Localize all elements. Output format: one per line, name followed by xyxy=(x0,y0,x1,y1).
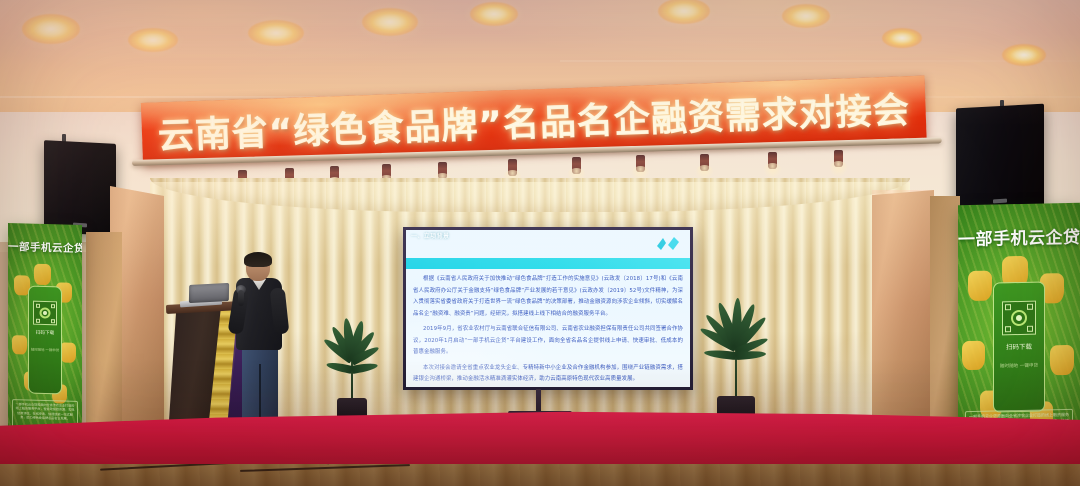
qr-corner xyxy=(1005,326,1011,332)
standee-left-qr-icon xyxy=(33,301,57,326)
standee-left-title: 一部手机云企贷 xyxy=(8,239,82,256)
floor-cable xyxy=(240,464,410,472)
standee-right-title: 一部手机云企贷 xyxy=(958,223,1080,251)
qr-scan-dot xyxy=(43,311,47,315)
standee-right-qr-icon xyxy=(1002,301,1036,336)
qr-corner xyxy=(1027,326,1033,332)
left-outer-wall-panel xyxy=(86,232,122,438)
projection-screen: 一、立项背景 根据《云南省人民政府关于加快推动“绿色食品牌”打造工作的实施意见》… xyxy=(403,227,693,390)
ceiling-downlight xyxy=(362,8,418,36)
qr-corner xyxy=(1005,304,1011,310)
standee-right-phone-label: 扫码下载 xyxy=(994,340,1044,351)
stage-spotlight xyxy=(768,152,777,169)
right-outer-wall-panel xyxy=(930,196,960,448)
standee-right-phone-graphic: 扫码下载 随时随地 一键申贷 xyxy=(993,281,1045,412)
left-pa-speaker xyxy=(44,140,116,236)
palm-frond xyxy=(736,350,766,360)
ceiling-downlight xyxy=(128,28,178,52)
potted-palm-right xyxy=(700,296,772,426)
ceiling-downlight xyxy=(882,28,922,48)
screen-stand xyxy=(536,389,541,413)
handheld-microphone xyxy=(238,290,244,306)
corn-graphic xyxy=(962,341,985,370)
slide-body: 根据《云南省人民政府关于加快推动“绿色食品牌”打造工作的实施意见》(云政发〔20… xyxy=(413,274,683,387)
stage-spotlight xyxy=(572,157,581,174)
corn-graphic xyxy=(1050,345,1074,376)
stage-spotlight xyxy=(508,159,517,176)
ceiling-downlight xyxy=(248,20,304,46)
projection-screen-surface: 一、立项背景 根据《云南省人民政府关于加快推动“绿色食品牌”打造工作的实施意见》… xyxy=(406,230,690,387)
standee-left-phone-sub: 随时随地 一键申贷 xyxy=(29,347,61,353)
stage-spotlight xyxy=(834,150,843,167)
corn-graphic xyxy=(12,335,27,354)
standee-left-phone-label: 扫码下载 xyxy=(29,330,61,337)
right-wall-pillar-wash xyxy=(872,190,934,448)
conference-stage-photo: 云南省“绿色食品牌”名品名企融资需求对接会 一、立项背景 根据《云南省人民政府关… xyxy=(0,0,1080,486)
corn-graphic xyxy=(34,264,51,285)
pa-badge xyxy=(993,199,1007,204)
qr-corner xyxy=(51,304,55,308)
slide-paragraph: 本次对接会邀请全省重点农业龙头企业、专精特新中小企业及合作金融机构参加，围绕产业… xyxy=(413,363,683,386)
ceiling-downlight xyxy=(658,0,710,24)
qr-corner xyxy=(36,318,40,322)
qr-corner xyxy=(1027,304,1033,310)
standee-left: 一部手机云企贷 扫码下载 随时随地 一键申贷 一部手机云企贷是面向全省涉农企业打… xyxy=(8,223,82,447)
presenter-leg-split xyxy=(259,364,261,426)
corn-graphic xyxy=(968,271,992,302)
corn-graphic xyxy=(60,342,76,362)
stage-spotlight xyxy=(636,155,645,172)
standee-right-phone-sub: 随时随地 一键申贷 xyxy=(994,362,1044,369)
ceiling-downlight xyxy=(1002,44,1046,66)
slide-section-label: 一、立项背景 xyxy=(411,230,449,241)
stage-spotlight xyxy=(438,162,447,179)
presentation-laptop-screen xyxy=(189,283,229,303)
ceiling-downlight xyxy=(470,2,518,26)
qr-corner xyxy=(36,303,40,307)
ceiling-downlight xyxy=(22,14,80,44)
ceiling-seam xyxy=(560,60,1080,62)
right-pa-speaker xyxy=(956,104,1044,213)
ceiling-downlight xyxy=(782,4,830,28)
slide-paragraph: 根据《云南省人民政府关于加快推动“绿色食品牌”打造工作的实施意见》(云政发〔20… xyxy=(413,274,683,320)
stage-spotlight xyxy=(700,154,709,171)
presenter xyxy=(232,254,288,436)
slide-section-bar xyxy=(406,258,690,269)
presenter-hair xyxy=(244,252,272,267)
qr-corner xyxy=(51,319,55,323)
slide-paragraph: 2019年9月，省农业农村厅与云南省联合征信有限公司、云南省农业融资担保有限责任… xyxy=(413,324,683,359)
potted-palm-left xyxy=(322,310,382,422)
standee-left-phone-graphic: 扫码下载 随时随地 一键申贷 xyxy=(28,286,62,395)
teal-chevron-logo-icon xyxy=(655,237,681,251)
